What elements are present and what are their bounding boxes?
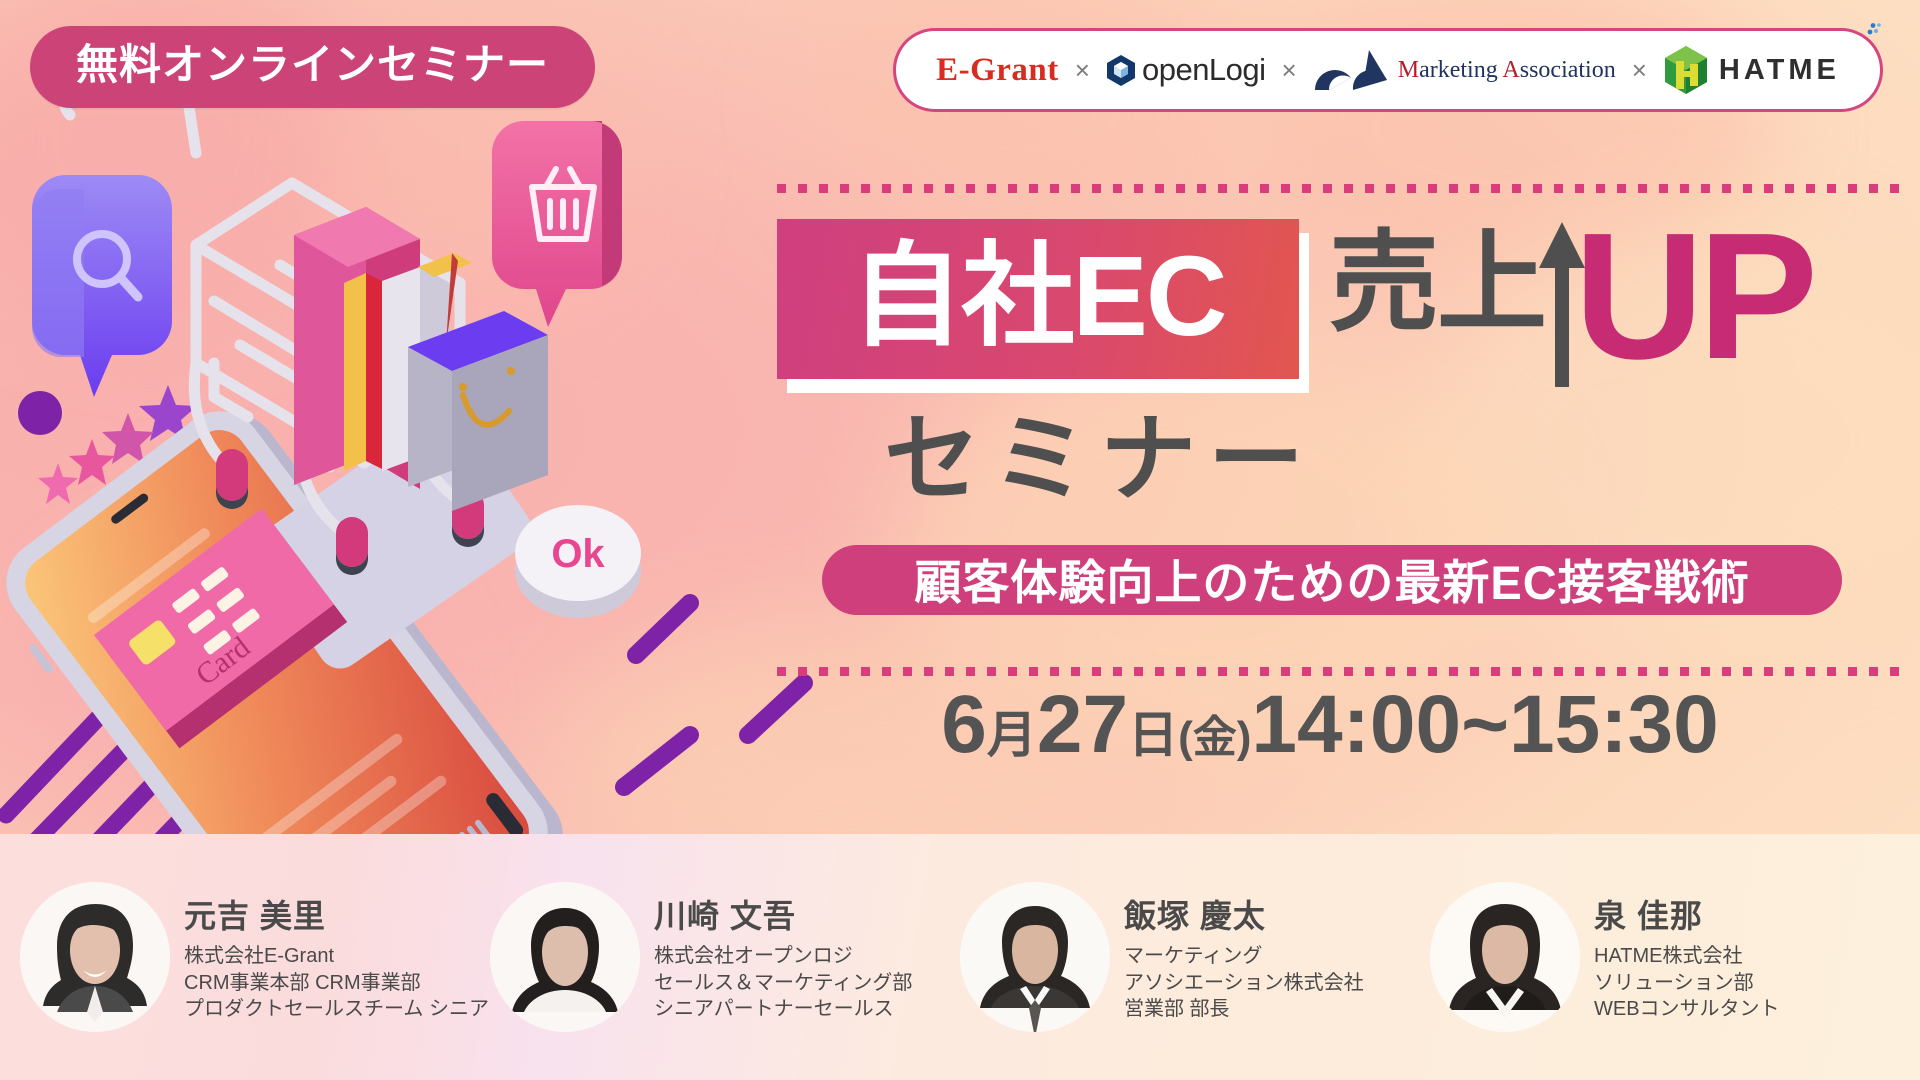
- speaker-role-line: アソシエーション株式会社: [1124, 970, 1364, 997]
- headline-boxed-text: 自社EC: [777, 219, 1299, 379]
- decor-purple-dashes: [624, 603, 804, 787]
- basket-bubble: [492, 121, 622, 327]
- openlogi-wordmark: openLogi: [1142, 52, 1266, 88]
- speaker-role-line: 株式会社オープンロジ: [654, 943, 912, 970]
- free-seminar-badge: 無料オンラインセミナー: [30, 26, 595, 108]
- speaker-role-line: 営業部 部長: [1124, 996, 1364, 1023]
- speaker-card: 飯塚 慶太 マーケティング アソシエーション株式会社 営業部 部長: [960, 882, 1430, 1032]
- openlogi-dots-icon: [1866, 22, 1882, 36]
- ma-letter-a: A: [1502, 57, 1519, 83]
- speaker-role-line: シニアパートナーセールス: [654, 996, 912, 1023]
- hatme-wordmark: HATME: [1719, 54, 1840, 87]
- logo-separator-icon: ×: [1632, 57, 1647, 83]
- speaker-role-line: HATME株式会社: [1594, 943, 1780, 970]
- speaker-info: 飯塚 慶太 マーケティング アソシエーション株式会社 営業部 部長: [1124, 891, 1364, 1023]
- partner-logo-bar: E-Grant × openLogi ×: [893, 28, 1883, 112]
- speaker-role-line: CRM事業本部 CRM事業部: [184, 970, 489, 997]
- speaker-role-line: セールス＆マーケティング部: [654, 970, 912, 997]
- avatar: [1430, 882, 1580, 1032]
- speaker-info: 元吉 美里 株式会社E-Grant CRM事業本部 CRM事業部 プロダクトセー…: [184, 891, 489, 1023]
- avatar: [960, 882, 1110, 1032]
- speaker-info: 泉 佳那 HATME株式会社 ソリューション部 WEBコンサルタント: [1594, 891, 1780, 1023]
- marketing-association-wordmark: Marketing Association: [1398, 57, 1616, 84]
- speaker-card: 泉 佳那 HATME株式会社 ソリューション部 WEBコンサルタント: [1430, 882, 1900, 1032]
- search-bubble: [32, 175, 172, 397]
- date-day-number: 27: [1037, 679, 1128, 770]
- speakers-strip: 元吉 美里 株式会社E-Grant CRM事業本部 CRM事業部 プロダクトセー…: [0, 834, 1920, 1080]
- speaker-name: 泉 佳那: [1594, 891, 1780, 937]
- headline-jisha-ec: 自社EC: [851, 240, 1226, 353]
- ok-button: Ok: [515, 505, 641, 618]
- avatar: [490, 882, 640, 1032]
- speaker-info: 川崎 文吾 株式会社オープンロジ セールス＆マーケティング部 シニアパートナーセ…: [654, 891, 912, 1023]
- ma-letter-m: M: [1398, 57, 1419, 83]
- ma-word-association: ssociation: [1520, 57, 1616, 83]
- ok-label: Ok: [551, 532, 605, 576]
- marketing-association-mark-icon: [1313, 48, 1391, 92]
- logo-separator-icon: ×: [1282, 57, 1297, 83]
- speaker-name: 元吉 美里: [184, 891, 489, 937]
- subtitle-banner: 顧客体験向上のための最新EC接客戦術: [822, 545, 1842, 615]
- logo-hatme: HATME: [1663, 45, 1840, 95]
- headline-seminar: セミナー: [884, 412, 1316, 508]
- speaker-role-line: プロダクトセールスチーム シニア: [184, 996, 489, 1023]
- date-month-number: 6: [941, 679, 987, 770]
- seminar-datetime: 6月27日(金)14:00~15:30: [941, 684, 1718, 766]
- date-month-unit: 月: [987, 707, 1037, 763]
- openlogi-cube-icon: [1106, 54, 1136, 87]
- speaker-role-line: WEBコンサルタント: [1594, 996, 1780, 1023]
- speaker-role-line: ソリューション部: [1594, 970, 1780, 997]
- date-day-unit: 日: [1128, 707, 1178, 763]
- logo-marketing-association: Marketing Association: [1313, 48, 1616, 92]
- speaker-role-line: マーケティング: [1124, 943, 1364, 970]
- logo-openlogi: openLogi: [1106, 52, 1266, 88]
- headline-uriage: 売上: [1329, 229, 1545, 339]
- headline-group: 自社EC 売上 UP: [777, 219, 1917, 399]
- hatme-hexagon-icon: [1663, 45, 1709, 95]
- speaker-card: 元吉 美里 株式会社E-Grant CRM事業本部 CRM事業部 プロダクトセー…: [20, 882, 490, 1032]
- speaker-role-line: 株式会社E-Grant: [184, 943, 489, 970]
- ecommerce-illustration: Ok Card: [0, 95, 830, 840]
- avatar: [20, 882, 170, 1032]
- logo-separator-icon: ×: [1075, 57, 1090, 83]
- speaker-name: 川崎 文吾: [654, 891, 912, 937]
- illustration-svg: Ok Card: [0, 95, 830, 840]
- logo-egrant: E-Grant: [936, 52, 1059, 89]
- speaker-card: 川崎 文吾 株式会社オープンロジ セールス＆マーケティング部 シニアパートナーセ…: [490, 882, 960, 1032]
- seminar-time: 14:00~15:30: [1251, 679, 1718, 770]
- dotted-rule-top: [777, 184, 1907, 193]
- seminar-banner: Ok Card 無料オンラインセミナー E-Gran: [0, 0, 1920, 1080]
- date-weekday: (金): [1178, 713, 1251, 762]
- dotted-rule-bottom: [777, 667, 1907, 676]
- headline-up: UP: [1574, 207, 1812, 387]
- ma-word-marketing: arketing: [1419, 57, 1502, 83]
- speaker-name: 飯塚 慶太: [1124, 891, 1364, 937]
- subtitle-text: 顧客体験向上のための最新EC接客戦術: [914, 544, 1749, 613]
